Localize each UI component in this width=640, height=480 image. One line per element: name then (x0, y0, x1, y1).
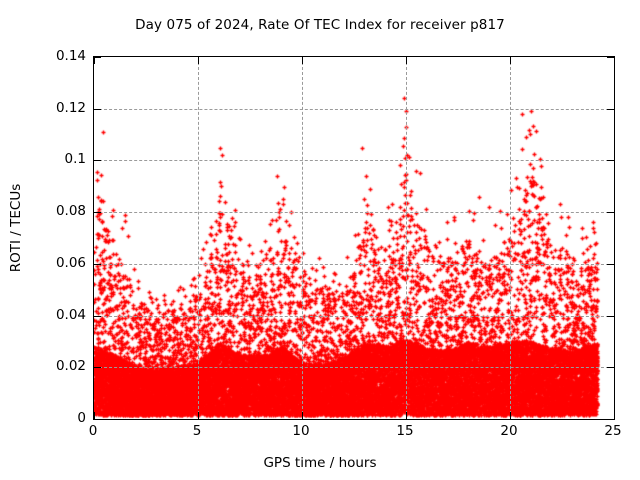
gridline-vertical (510, 57, 511, 419)
y-axis-tick (94, 57, 101, 58)
x-axis-tick-label: 0 (73, 424, 113, 439)
x-axis-tick-top (94, 57, 95, 64)
y-axis-tick (94, 264, 101, 265)
x-axis-tick (406, 412, 407, 419)
x-axis-tick-top (198, 57, 199, 64)
y-axis-tick-label: 0.02 (56, 359, 86, 373)
x-axis-tick-label: 20 (489, 424, 529, 439)
x-axis-tick-top (406, 57, 407, 64)
gridline-horizontal (94, 264, 614, 265)
x-axis-tick (302, 412, 303, 419)
y-axis-tick-right (607, 264, 614, 265)
x-axis-label: GPS time / hours (0, 455, 640, 471)
y-axis-tick (94, 109, 101, 110)
gridline-vertical (302, 57, 303, 419)
gridline-horizontal (94, 367, 614, 368)
y-axis-tick-right (607, 109, 614, 110)
x-axis-tick-top (614, 57, 615, 64)
x-axis-tick (198, 412, 199, 419)
plot-area (93, 56, 615, 420)
y-axis-tick-labels: 00.020.040.060.080.10.120.14 (0, 0, 86, 480)
y-axis-tick-right (607, 316, 614, 317)
x-axis-tick-label: 25 (593, 424, 633, 439)
x-axis-tick (510, 412, 511, 419)
x-axis-tick-top (510, 57, 511, 64)
x-axis-tick (614, 412, 615, 419)
y-axis-tick-label: 0.12 (56, 101, 86, 115)
y-axis-tick-right (607, 212, 614, 213)
y-axis-tick-right (607, 367, 614, 368)
y-axis-tick-label: 0 (77, 411, 86, 425)
roti-scatter-figure: Day 075 of 2024, Rate Of TEC Index for r… (0, 0, 640, 480)
y-axis-tick-label: 0.06 (56, 256, 86, 270)
y-axis-tick-label: 0.1 (65, 152, 86, 166)
page-title: Day 075 of 2024, Rate Of TEC Index for r… (0, 17, 640, 33)
gridline-horizontal (94, 160, 614, 161)
y-axis-tick (94, 367, 101, 368)
gridline-vertical (198, 57, 199, 419)
x-axis-tick-top (302, 57, 303, 64)
y-axis-tick-label: 0.08 (56, 204, 86, 218)
x-axis-tick-label: 10 (281, 424, 321, 439)
gridline-vertical (406, 57, 407, 419)
y-axis-tick (94, 316, 101, 317)
y-axis-tick (94, 212, 101, 213)
gridline-horizontal (94, 109, 614, 110)
x-axis-tick-label: 5 (177, 424, 217, 439)
gridline-horizontal (94, 212, 614, 213)
y-axis-tick (94, 160, 101, 161)
gridline-horizontal (94, 316, 614, 317)
x-axis-tick-label: 15 (385, 424, 425, 439)
y-axis-tick-label: 0.14 (56, 49, 86, 63)
y-axis-tick-right (607, 57, 614, 58)
y-axis-tick-right (607, 160, 614, 161)
scatter-plot-canvas (94, 57, 614, 419)
x-axis-tick (94, 412, 95, 419)
y-axis-tick-label: 0.04 (56, 308, 86, 322)
